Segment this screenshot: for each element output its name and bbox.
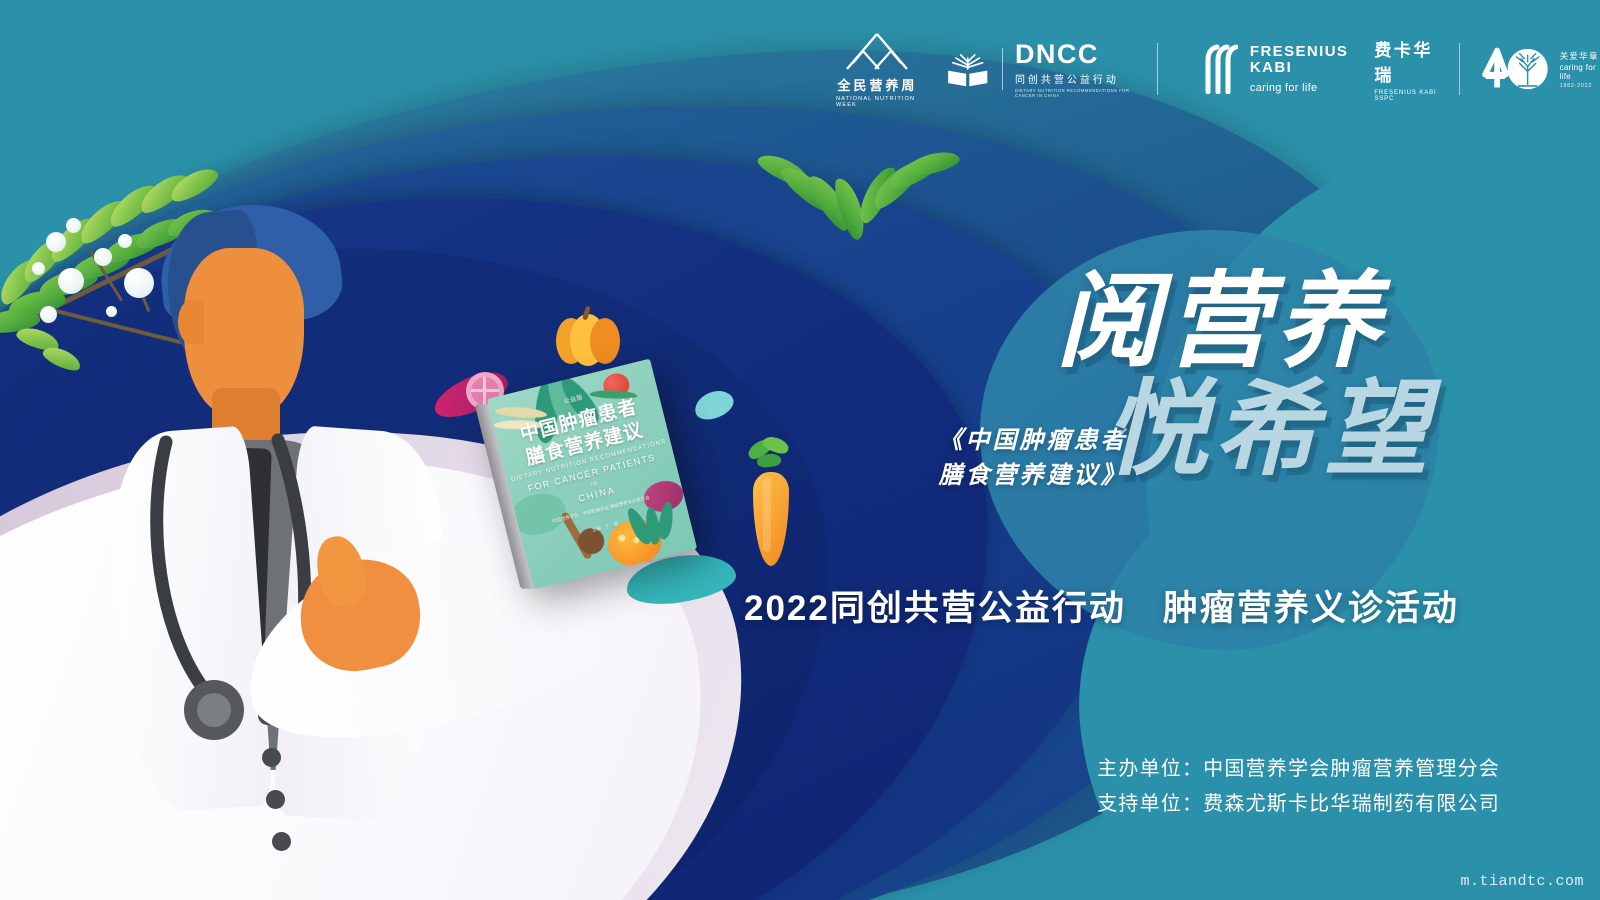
logo-dncc: DNCC 同创共营公益行动 DIETARY NUTRITION RECOMMEN… (945, 41, 1141, 98)
carrot-veggie (745, 448, 801, 568)
sspc-en-label: FRESENIUS KABI SSPC (1374, 90, 1442, 102)
teal-teardrop-shape (691, 385, 738, 424)
nnw-cn-label: 全民营养周 (837, 75, 917, 94)
nnw-en-label: NATIONAL NUTRITION WEEK (836, 96, 919, 108)
organizer-line: 主办单位：中国营养学会肿瘤营养管理分会 (1097, 752, 1500, 787)
poster-canvas: 公益版 中国肿瘤患者 膳食营养建议 DIETARY NUTRITION RECO… (0, 0, 1600, 900)
sponsor-logo-row: 全民营养周 NATIONAL NUTRITION WEEK DNCC 同创共营公… (836, 30, 1600, 108)
footer-organizations: 主办单位：中国营养学会肿瘤营养管理分会 支持单位：费森尤斯卡比华瑞制药有限公司 (1097, 752, 1500, 822)
logo-40th-anniversary: 关爱华章 caring for life 1982-2022 (1481, 42, 1600, 96)
sspc-cn-label: 费卡华瑞 (1374, 36, 1442, 86)
doctor-ear (178, 300, 204, 344)
logo-divider-1 (1157, 43, 1158, 95)
pumpkin-veggie (556, 312, 620, 366)
headline-line2: 悦希望 (1104, 380, 1526, 482)
fern-top-right (760, 150, 960, 280)
coat-button-2 (262, 748, 281, 767)
coat-button-3 (266, 790, 285, 809)
fk-tagline: caring for life (1250, 82, 1348, 94)
watermark: m.tiandtc.com (1460, 873, 1584, 890)
logo-national-nutrition-week: 全民营养周 NATIONAL NUTRITION WEEK (836, 31, 919, 108)
headline-line1: 阅营养 (1056, 272, 1526, 374)
headline: 阅营养 悦希望 (1056, 272, 1526, 482)
dncc-en-label: DIETARY NUTRITION RECOMMENDATIONS FOR CA… (1015, 88, 1141, 98)
anniv-years-label: 1982-2022 (1560, 83, 1600, 89)
dncc-cn-label: 同创共营公益行动 (1015, 71, 1141, 86)
dncc-wordmark: DNCC (1015, 41, 1141, 68)
logo-fresenius-kabi-sspc: 费卡华瑞 FRESENIUS KABI SSPC (1374, 36, 1442, 102)
event-subtitle: 2022同创共营公益行动 肿瘤营养义诊活动 (744, 580, 1459, 631)
fk-line2: KABI (1250, 60, 1348, 76)
anniv-en-label: caring for life (1560, 63, 1600, 81)
anniversary-tree-icon (1481, 42, 1550, 96)
coat-button-4 (272, 832, 291, 851)
fresenius-kabi-mark-icon (1202, 44, 1238, 94)
logo-divider-2 (1459, 43, 1460, 95)
anniv-cn-label: 关爱华章 (1560, 50, 1600, 62)
logo-fresenius-kabi: FRESENIUS KABI caring for life (1202, 44, 1348, 95)
open-book-sprout-icon (945, 43, 990, 95)
mountain-icon (843, 31, 911, 73)
book-mockup: 公益版 中国肿瘤患者 膳食营养建议 DIETARY NUTRITION RECO… (487, 359, 697, 590)
supporter-line: 支持单位：费森尤斯卡比华瑞制药有限公司 (1097, 787, 1500, 822)
fk-line1: FRESENIUS (1250, 44, 1348, 60)
